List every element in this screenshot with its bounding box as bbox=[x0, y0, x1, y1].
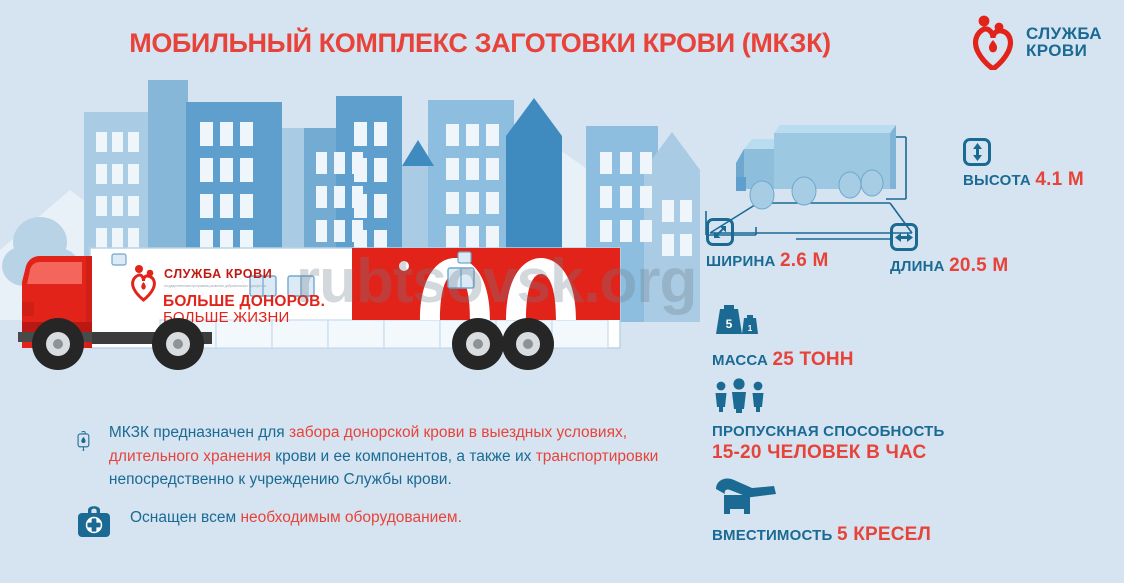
page-title: МОБИЛЬНЫЙ КОМПЛЕКС ЗАГОТОВКИ КРОВИ (МКЗК… bbox=[0, 28, 960, 59]
infographic-poster: МОБИЛЬНЫЙ КОМПЛЕКС ЗАГОТОВКИ КРОВИ (МКЗК… bbox=[0, 0, 1124, 583]
logo-line-2: КРОВИ bbox=[1026, 42, 1102, 59]
bullet-equipment: Оснащен всем необходимым оборудованием. bbox=[76, 502, 636, 540]
spec-width: ШИРИНА 2.6 М bbox=[706, 218, 829, 272]
arrow-up-down-icon bbox=[963, 138, 991, 166]
spec-length-label: ДЛИНА bbox=[890, 258, 945, 275]
segment: непосредственно к учреждению Службы кров… bbox=[109, 471, 452, 488]
blood-bag-icon bbox=[76, 417, 91, 465]
spec-throughput-label: ПРОПУСКНАЯ СПОСОБНОСТЬ bbox=[712, 423, 944, 440]
truck-brand-name: СЛУЖБА КРОВИ bbox=[164, 267, 272, 281]
spec-width-label: ШИРИНА bbox=[706, 253, 776, 270]
spec-seats-label: ВМЕСТИМОСТЬ bbox=[712, 527, 833, 544]
segment-highlight: транспортировки bbox=[536, 448, 659, 465]
weight-small-label: 1 bbox=[748, 324, 753, 333]
blood-service-logo: СЛУЖБА КРОВИ bbox=[972, 14, 1102, 70]
bullet-equipment-text: Оснащен всем необходимым оборудованием. bbox=[130, 502, 462, 530]
donor-chair-icon bbox=[712, 473, 778, 515]
segment: крови и ее компонентов, а также их bbox=[271, 448, 536, 465]
people-group-icon bbox=[712, 378, 768, 414]
spec-height-value: 4.1 М bbox=[1035, 169, 1084, 190]
spec-height-label: ВЫСОТА bbox=[963, 172, 1031, 189]
truck-slogan-line-1: БОЛЬШЕ ДОНОРОВ. bbox=[163, 293, 325, 310]
spec-height: ВЫСОТА 4.1 М bbox=[963, 138, 1084, 191]
arrow-diagonal-icon bbox=[706, 218, 734, 246]
bullet-purpose: МКЗК предназначен для забора донорской к… bbox=[76, 417, 696, 492]
medical-kit-icon bbox=[76, 502, 112, 540]
mobile-blood-collection-truck: СЛУЖБА КРОВИ государственная программа р… bbox=[18, 248, 620, 370]
spec-seats: ВМЕСТИМОСТЬ 5 КРЕСЕЛ bbox=[712, 473, 931, 546]
arrow-left-right-icon bbox=[890, 223, 918, 251]
blood-service-heart-figures-logo-icon bbox=[972, 14, 1018, 70]
spec-throughput-value: 15-20 ЧЕЛОВЕК В ЧАС bbox=[712, 442, 926, 463]
spec-length-value: 20.5 М bbox=[949, 255, 1008, 276]
segment-highlight: необходимым оборудованием. bbox=[240, 509, 461, 526]
spec-throughput: ПРОПУСКНАЯ СПОСОБНОСТЬ 15-20 ЧЕЛОВЕК В Ч… bbox=[712, 378, 944, 464]
weight-big-label: 5 bbox=[726, 317, 733, 331]
scene-illustration: СЛУЖБА КРОВИ государственная программа р… bbox=[0, 70, 700, 400]
spec-length: ДЛИНА 20.5 М bbox=[890, 223, 1008, 277]
weights-icon: 5 1 bbox=[712, 300, 764, 340]
logo-line-1: СЛУЖБА bbox=[1026, 25, 1102, 42]
truck-3d-shape bbox=[736, 125, 896, 209]
spec-mass-value: 25 ТОНН bbox=[773, 349, 854, 370]
bullet-purpose-text: МКЗК предназначен для забора донорской к… bbox=[109, 417, 696, 492]
segment: Оснащен всем bbox=[130, 509, 240, 526]
spec-mass: 5 1 МАССА 25 ТОНН bbox=[712, 300, 854, 371]
spec-seats-value: 5 КРЕСЕЛ bbox=[837, 524, 931, 545]
segment: МКЗК предназначен для bbox=[109, 424, 289, 441]
spec-mass-label: МАССА bbox=[712, 352, 768, 369]
truck-brand-sub: государственная программа развития добро… bbox=[164, 284, 266, 288]
spec-width-value: 2.6 М bbox=[780, 250, 829, 271]
